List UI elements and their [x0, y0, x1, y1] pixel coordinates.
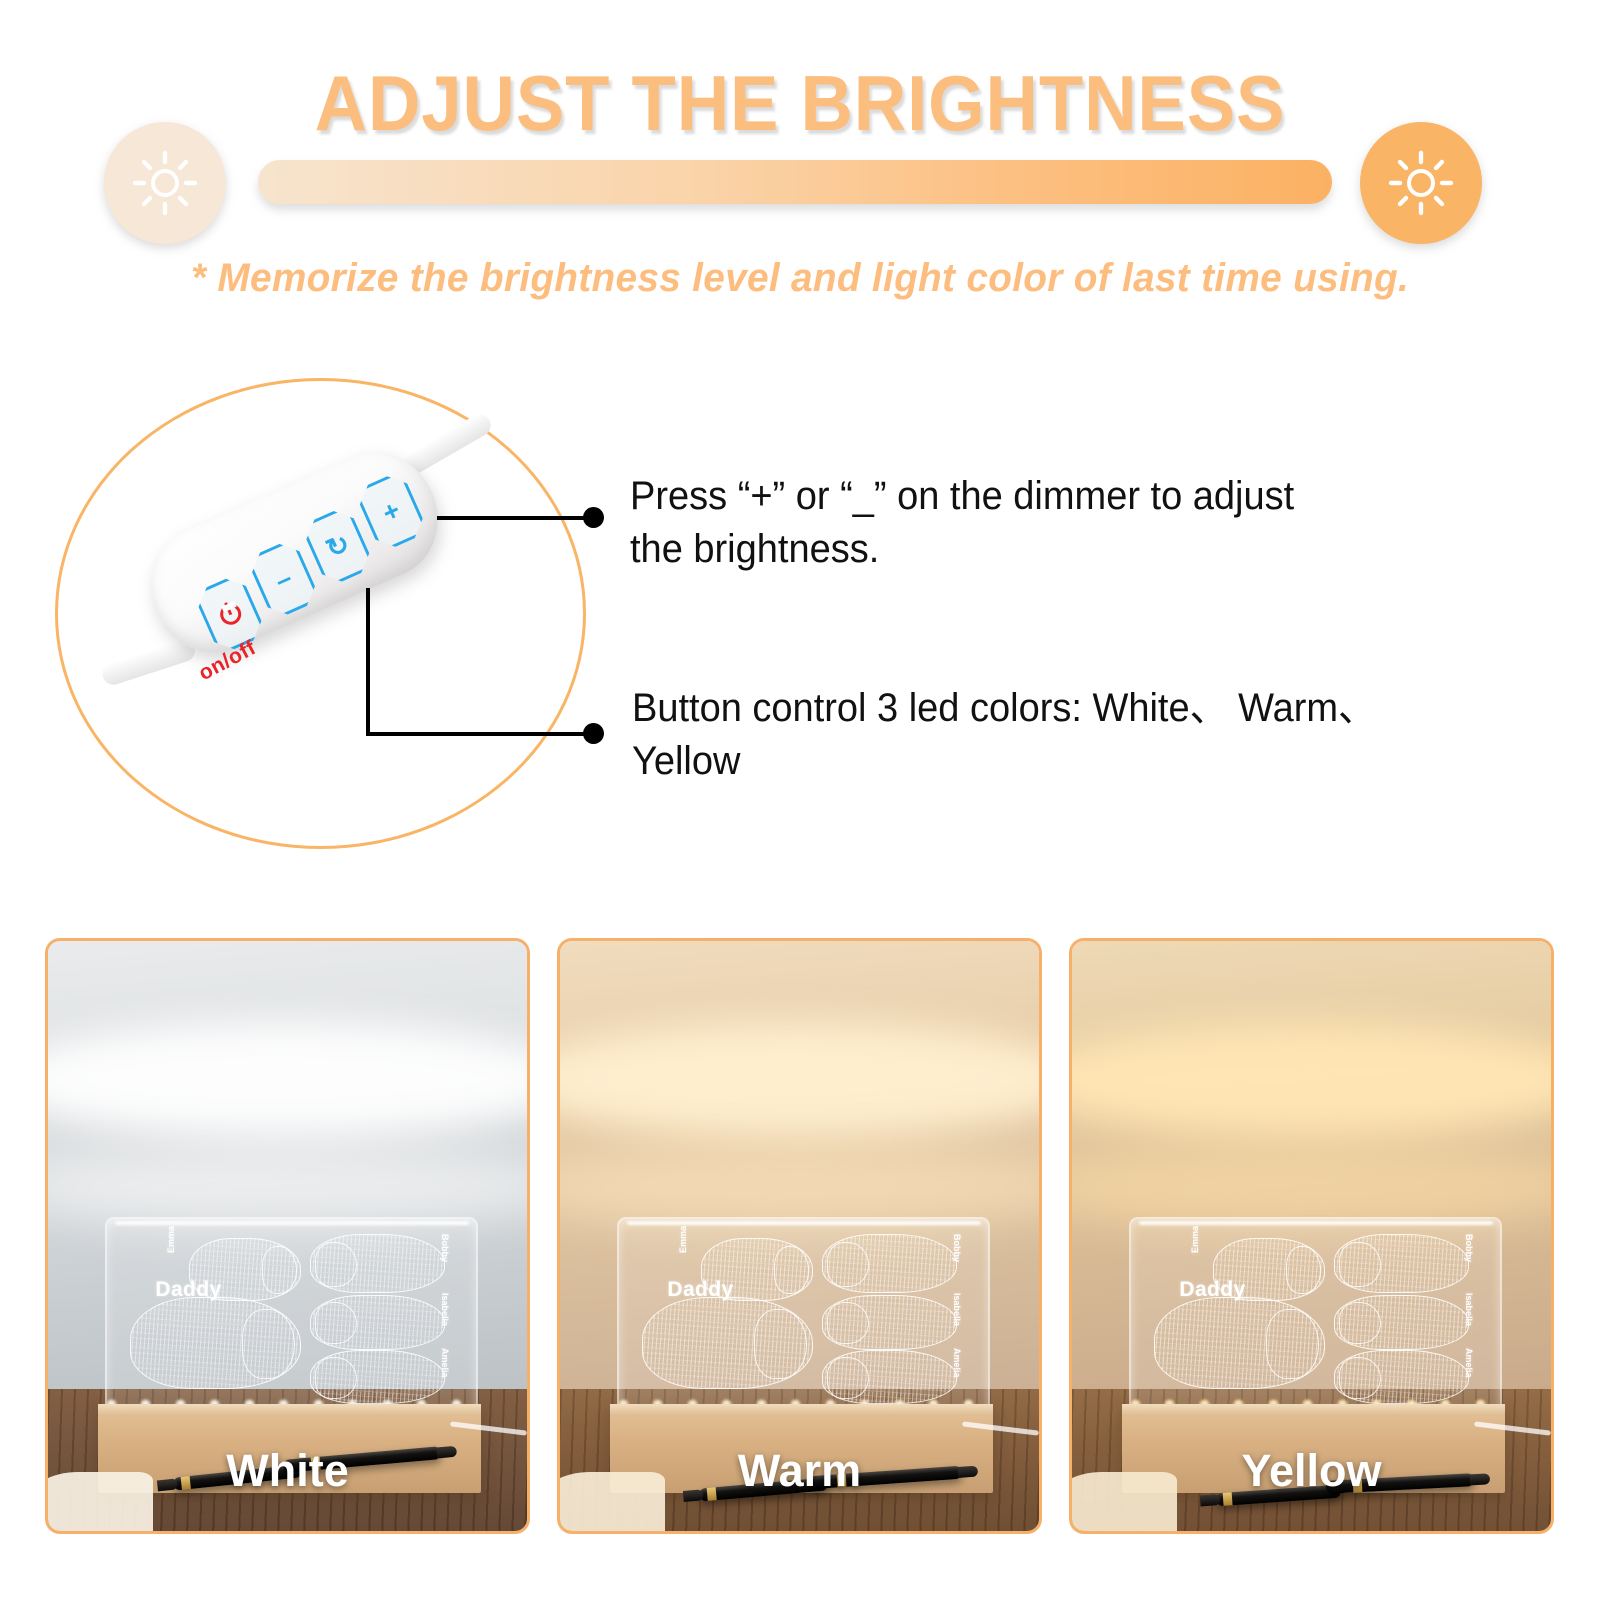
- acrylic-plaque: Emma Daddy Bobby Isabella Amelia: [105, 1217, 478, 1410]
- brightness-slider[interactable]: [258, 160, 1332, 204]
- fist-isabella: [310, 1295, 445, 1350]
- power-icon: [216, 600, 244, 628]
- fist-daddy: [642, 1297, 814, 1390]
- fist-isabella: [822, 1295, 957, 1350]
- plus-button[interactable]: +: [354, 470, 429, 553]
- base-top-edge: [1122, 1404, 1505, 1416]
- engraved-name-isabella: Isabella: [440, 1293, 450, 1326]
- engraved-name-daddy: Daddy: [1179, 1278, 1245, 1302]
- engraved-name-amelia: Amelia: [952, 1348, 962, 1378]
- knuckles: [774, 1246, 809, 1294]
- engraved-name-bobby: Bobby: [952, 1234, 962, 1262]
- engraved-name-emma: Emma: [678, 1226, 688, 1253]
- minus-button[interactable]: –: [246, 538, 321, 621]
- scene-white: Emma Daddy Bobby Isabella Amelia: [48, 941, 527, 1531]
- callout-dot-1: [583, 507, 604, 528]
- engraved-name-bobby: Bobby: [1464, 1234, 1474, 1262]
- engraving-artwork: Emma Daddy Bobby Isabella Amelia: [1131, 1219, 1500, 1408]
- memory-note: * Memorize the brightness level and ligh…: [24, 256, 1576, 301]
- knuckles: [242, 1309, 295, 1380]
- color-cycle-button[interactable]: ↻: [300, 505, 375, 588]
- engraved-name-bobby: Bobby: [440, 1234, 450, 1262]
- fist-amelia: [310, 1350, 445, 1405]
- fist-bobby: [310, 1234, 445, 1293]
- fist-isabella: [1334, 1295, 1469, 1350]
- callout-2-line-1: Button control 3 led colors: White、 Warm…: [632, 682, 1487, 735]
- callout-text-1: Press “+” or “_” on the dimmer to adjust…: [630, 470, 1466, 576]
- photo-label-warm: Warm: [560, 1445, 1039, 1497]
- engraved-name-emma: Emma: [166, 1226, 176, 1253]
- brightness-slider-track[interactable]: [258, 160, 1332, 204]
- engraving-artwork: Emma Daddy Bobby Isabella Amelia: [619, 1219, 988, 1408]
- engraved-name-daddy: Daddy: [667, 1278, 733, 1302]
- wall-sheen-secondary: [557, 1147, 1042, 1228]
- scene-warm: Emma Daddy Bobby Isabella Amelia: [560, 941, 1039, 1531]
- acrylic-plaque: Emma Daddy Bobby Isabella Amelia: [617, 1217, 990, 1410]
- fist-daddy: [130, 1297, 302, 1390]
- base-top-edge: [98, 1404, 481, 1416]
- engraved-name-emma: Emma: [1190, 1226, 1200, 1253]
- engraved-name-isabella: Isabella: [1464, 1293, 1474, 1326]
- engraved-name-isabella: Isabella: [952, 1293, 962, 1326]
- knuckles: [1339, 1357, 1381, 1399]
- knuckles: [827, 1302, 869, 1344]
- fist-bobby: [822, 1234, 957, 1293]
- engraved-name-daddy: Daddy: [155, 1278, 221, 1302]
- callout-line-2-vertical: [366, 588, 370, 736]
- color-mode-gallery: Emma Daddy Bobby Isabella Amelia: [0, 938, 1600, 1538]
- knuckles: [315, 1302, 357, 1344]
- wall-sheen: [557, 1022, 1042, 1139]
- power-button[interactable]: [192, 572, 267, 655]
- knuckles: [315, 1242, 357, 1287]
- callout-2-line-2: Yellow: [632, 735, 1487, 788]
- page-title: ADJUST THE BRIGHTNESS: [56, 58, 1544, 149]
- knuckles: [1286, 1246, 1321, 1294]
- base-top-edge: [610, 1404, 993, 1416]
- fist-daddy: [1154, 1297, 1326, 1390]
- knuckles: [827, 1357, 869, 1399]
- scene-yellow: Emma Daddy Bobby Isabella Amelia: [1072, 941, 1551, 1531]
- acrylic-plaque: Emma Daddy Bobby Isabella Amelia: [1129, 1217, 1502, 1410]
- knuckles: [754, 1309, 807, 1380]
- wall-sheen-secondary: [1069, 1147, 1554, 1228]
- photo-yellow[interactable]: Emma Daddy Bobby Isabella Amelia: [1069, 938, 1554, 1534]
- engraving-artwork: Emma Daddy Bobby Isabella Amelia: [107, 1219, 476, 1408]
- callout-line-1: [437, 516, 593, 520]
- callout-1-line-1: Press “+” or “_” on the dimmer to adjust: [630, 470, 1466, 523]
- sun-dim-icon: [104, 122, 226, 244]
- engraved-name-amelia: Amelia: [440, 1348, 450, 1378]
- knuckles: [315, 1357, 357, 1399]
- wall-sheen: [45, 1022, 530, 1139]
- wall-sheen: [1069, 1022, 1554, 1139]
- callout-text-2: Button control 3 led colors: White、 Warm…: [632, 682, 1487, 788]
- knuckles: [262, 1246, 297, 1294]
- knuckles: [827, 1242, 869, 1287]
- photo-white[interactable]: Emma Daddy Bobby Isabella Amelia: [45, 938, 530, 1534]
- photo-label-white: White: [48, 1445, 527, 1497]
- engraved-name-amelia: Amelia: [1464, 1348, 1474, 1378]
- callout-dot-2: [583, 723, 604, 744]
- photo-label-yellow: Yellow: [1072, 1445, 1551, 1497]
- knuckles: [1339, 1242, 1381, 1287]
- wall-sheen-secondary: [45, 1147, 530, 1228]
- callout-line-2-horizontal: [366, 732, 596, 736]
- fist-amelia: [822, 1350, 957, 1405]
- fist-bobby: [1334, 1234, 1469, 1293]
- callout-1-line-2: the brightness.: [630, 523, 1466, 576]
- fist-amelia: [1334, 1350, 1469, 1405]
- knuckles: [1266, 1309, 1319, 1380]
- photo-warm[interactable]: Emma Daddy Bobby Isabella Amelia: [557, 938, 1042, 1534]
- knuckles: [1339, 1302, 1381, 1344]
- infographic-canvas: ADJUST THE BRIGHTNESS: [0, 0, 1600, 1600]
- sun-bright-icon: [1360, 122, 1482, 244]
